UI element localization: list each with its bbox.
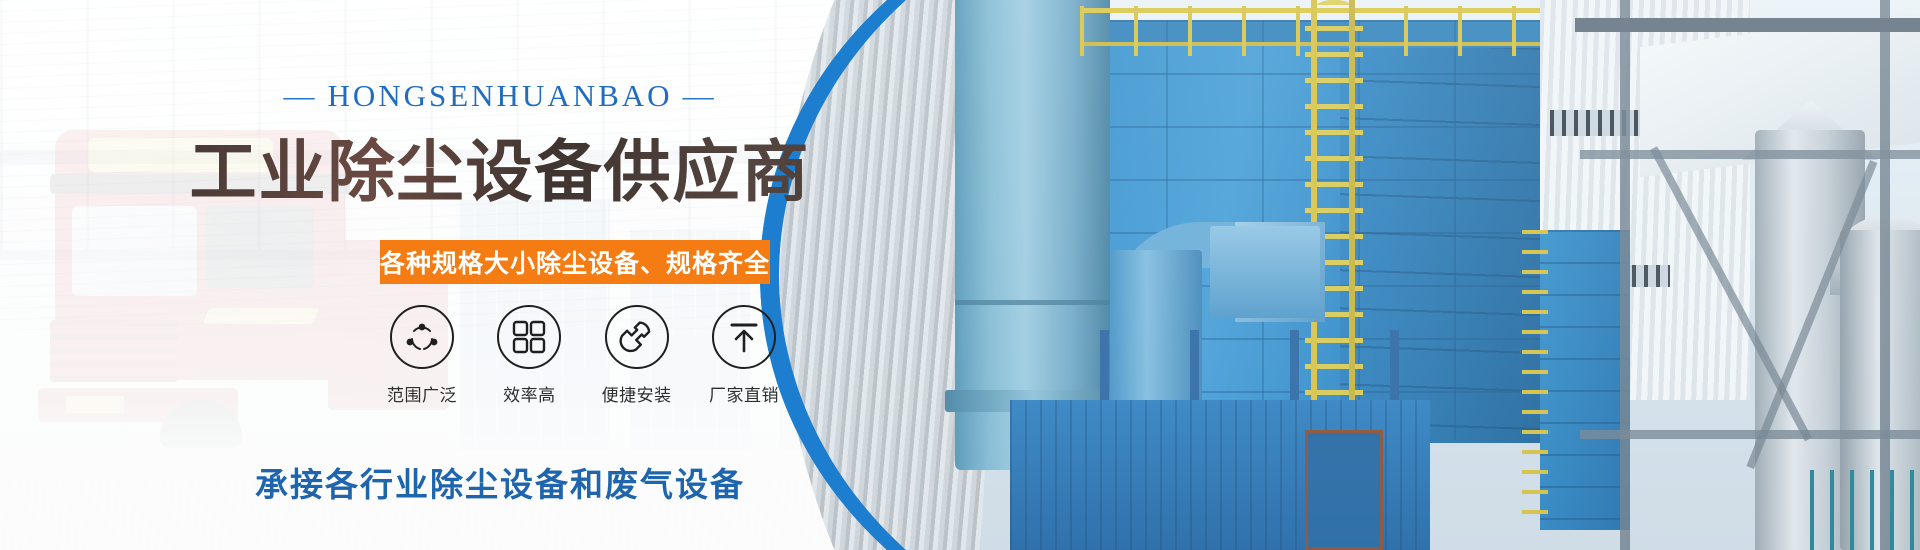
frame-brace — [1650, 146, 1812, 441]
feature-label: 效率高 — [485, 381, 573, 406]
teal-fence — [1810, 470, 1920, 550]
highlight-banner: 各种规格大小除尘设备、规格齐全 — [380, 240, 770, 284]
feature-item-direct-sales[interactable]: 厂家直销 — [700, 305, 788, 406]
feature-label: 便捷安装 — [593, 381, 681, 406]
steel-framework — [1580, 0, 1920, 550]
housing-access-door — [1305, 430, 1383, 550]
brand-eyebrow: —HONGSENHUANBAO— — [0, 78, 1000, 114]
roof-catwalk — [1575, 18, 1920, 32]
feature-item-efficiency[interactable]: 效率高 — [485, 305, 573, 406]
grid-squares-icon — [497, 305, 561, 369]
feature-label: 范围广泛 — [378, 381, 466, 406]
eyebrow-text: HONGSENHUANBAO — [327, 78, 672, 113]
banner-content: —HONGSENHUANBAO— 工业除尘设备供应商 工业除尘设备供应商 各种规… — [0, 0, 1000, 550]
feature-list: 范围广泛 效率高 — [378, 305, 788, 406]
promo-banner: —HONGSENHUANBAO— 工业除尘设备供应商 工业除尘设备供应商 各种规… — [0, 0, 1920, 550]
feature-item-installation[interactable]: 便捷安装 — [593, 305, 681, 406]
frame-brace — [1746, 160, 1877, 469]
network-nodes-icon — [390, 305, 454, 369]
frame-beam — [1580, 430, 1920, 439]
secondary-ladder — [1522, 230, 1548, 530]
page-title: 工业除尘设备供应商 — [0, 118, 1000, 215]
feature-label: 厂家直销 — [700, 381, 788, 406]
eyebrow-dash-left: — — [273, 78, 327, 113]
duct-horizontal — [1210, 226, 1320, 318]
highlight-banner-text: 各种规格大小除尘设备、规格齐全 — [380, 244, 770, 280]
frame-beam — [1580, 150, 1920, 159]
upload-arrow-icon — [712, 305, 776, 369]
banner-tagline: 承接各行业除尘设备和废气设备 — [0, 458, 1000, 506]
frame-column — [1880, 0, 1890, 550]
frame-column — [1620, 0, 1630, 550]
wrench-icon — [605, 305, 669, 369]
feature-item-scope[interactable]: 范围广泛 — [378, 305, 466, 406]
eyebrow-dash-right: — — [673, 78, 727, 113]
